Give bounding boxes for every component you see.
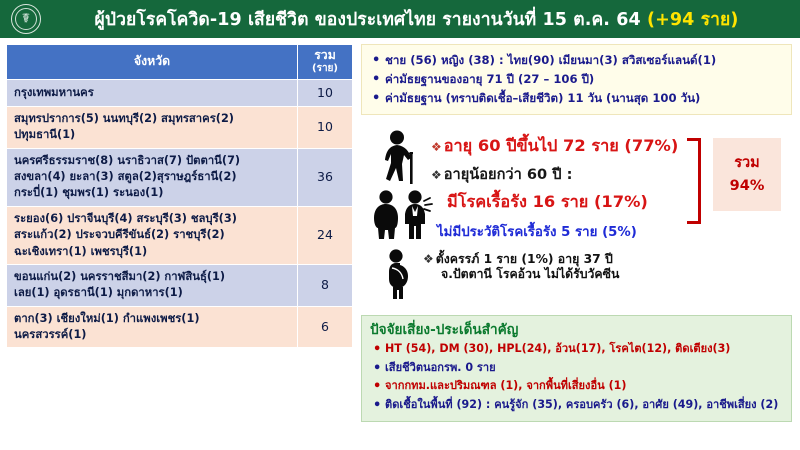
list-item: HT (54), DM (30), HPL(24), อ้วน(17), โรค…	[370, 340, 784, 359]
stat-elderly-60-plus: ❖อายุ 60 ปีขึ้นไป 72 ราย (77%)	[431, 136, 678, 156]
elderly-with-cane-icon	[377, 130, 423, 186]
column-header-total-label: รวม	[314, 48, 336, 62]
age-breakdown-region: ❖อายุ 60 ปีขึ้นไป 72 ราย (77%) ❖อายุน้อย…	[361, 122, 792, 310]
page-title-main: ผู้ป่วยโรคโควิด-19 เสียชีวิต ของประเทศไท…	[95, 10, 641, 30]
cell-provinces: กรุงเทพมหานคร	[7, 79, 298, 106]
list-item: ค่ามัธยฐานของอายุ 71 ปี (27 – 106 ปี)	[370, 70, 783, 89]
list-item: ติดเชื้อในพื้นที่ (92) : คนรู้จัก (35), …	[370, 396, 784, 415]
stat-under-60-label: ❖อายุน้อยกว่า 60 ปี :	[431, 166, 572, 184]
cell-total: 36	[298, 148, 353, 206]
moph-emblem-icon: ☤	[11, 4, 41, 34]
list-item: เสียชีวิตนอกรพ. 0 ราย	[370, 359, 784, 378]
demographics-info-box: ชาย (56) หญิง (38) : ไทย(90) เมียนมา(3) …	[361, 44, 792, 115]
obese-and-coughing-person-icon	[371, 190, 437, 240]
diamond-bullet-icon: ❖	[431, 140, 444, 154]
summary-total-value: 94%	[730, 179, 765, 194]
stat-elderly-text: อายุ 60 ปีขึ้นไป 72 ราย (77%)	[444, 136, 679, 155]
demographics-list: ชาย (56) หญิง (38) : ไทย(90) เมียนมา(3) …	[370, 51, 783, 107]
column-header-province: จังหวัด	[7, 45, 298, 80]
page-title-delta: (+94 ราย)	[647, 10, 739, 30]
summary-bracket	[687, 138, 701, 224]
summary-total-label: รวม	[734, 156, 760, 171]
list-item: ค่ามัธยฐาน (ทราบติดเชื้อ–เสียชีวิต) 11 ว…	[370, 89, 783, 108]
cell-total: 8	[298, 264, 353, 306]
cell-provinces: ขอนแก่น(2) นครราชสีมา(2) กาฬสินธุ์(1)เลย…	[7, 264, 298, 306]
table-row: ระยอง(6) ปราจีนบุรี(4) สระบุรี(3) ชลบุรี…	[7, 206, 353, 264]
stat-under-60-text: อายุน้อยกว่า 60 ปี :	[444, 166, 573, 183]
table-body: กรุงเทพมหานคร10สมุทรปราการ(5) นนทบุรี(2)…	[7, 79, 353, 348]
cell-total: 6	[298, 306, 353, 348]
cell-provinces: นครศรีธรรมราช(8) นราธิวาส(7) ปัตตานี(7)ส…	[7, 148, 298, 206]
pregnant-woman-icon	[383, 249, 415, 299]
table-row: สมุทรปราการ(5) นนทบุรี(2) สมุทรสาคร(2)ปท…	[7, 106, 353, 148]
stat-chronic-disease: มีโรคเรื้อรัง 16 ราย (17%)	[447, 192, 648, 212]
list-item: ชาย (56) หญิง (38) : ไทย(90) เมียนมา(3) …	[370, 51, 783, 70]
stat-pregnant-case: ❖ตั้งครรภ์ 1 ราย (1%) อายุ 37 ปี จ.ปัตตา…	[423, 252, 619, 282]
risk-factor-title: ปัจจัยเสี่ยง-ประเด็นสำคัญ	[370, 321, 784, 339]
column-header-total-unit: (ราย)	[300, 63, 350, 76]
summary-total-box: รวม 94%	[713, 138, 781, 211]
cell-total: 10	[298, 79, 353, 106]
risk-factor-list: HT (54), DM (30), HPL(24), อ้วน(17), โรค…	[370, 340, 784, 414]
caduceus-glyph: ☤	[22, 13, 31, 26]
page-title: ผู้ป่วยโรคโควิด-19 เสียชีวิต ของประเทศไท…	[41, 5, 800, 33]
table-row: กรุงเทพมหานคร10	[7, 79, 353, 106]
table-row: ตาก(3) เชียงใหม่(1) กำแพงเพชร(1)นครสวรรค…	[7, 306, 353, 348]
column-header-total: รวม (ราย)	[298, 45, 353, 80]
table-row: ขอนแก่น(2) นครราชสีมา(2) กาฬสินธุ์(1)เลย…	[7, 264, 353, 306]
diamond-bullet-icon: ❖	[431, 168, 444, 182]
stat-pregnant-line-1: ตั้งครรภ์ 1 ราย (1%) อายุ 37 ปี	[436, 252, 613, 266]
diamond-bullet-icon: ❖	[423, 252, 436, 266]
cell-provinces: สมุทรปราการ(5) นนทบุรี(2) สมุทรสาคร(2)ปท…	[7, 106, 298, 148]
list-item: จากกทม.และปริมณฑล (1), จากพื้นที่เสี่ยงอ…	[370, 377, 784, 396]
cell-provinces: ตาก(3) เชียงใหม่(1) กำแพงเพชร(1)นครสวรรค…	[7, 306, 298, 348]
province-death-table: จังหวัด รวม (ราย) กรุงเทพมหานคร10สมุทรปร…	[6, 44, 353, 348]
table-header-row: จังหวัด รวม (ราย)	[7, 45, 353, 80]
risk-factor-box: ปัจจัยเสี่ยง-ประเด็นสำคัญ HT (54), DM (3…	[361, 315, 792, 422]
stat-no-chronic-disease: ไม่มีประวัติโรคเรื้อรัง 5 ราย (5%)	[437, 225, 637, 241]
stat-pregnant-line-2: จ.ปัตตานี โรคอ้วน ไม่ได้รับวัคซีน	[423, 267, 619, 282]
table-row: นครศรีธรรมราช(8) นราธิวาส(7) ปัตตานี(7)ส…	[7, 148, 353, 206]
header-bar: ☤ ผู้ป่วยโรคโควิด-19 เสียชีวิต ของประเทศ…	[0, 0, 800, 38]
cell-provinces: ระยอง(6) ปราจีนบุรี(4) สระบุรี(3) ชลบุรี…	[7, 206, 298, 264]
cell-total: 10	[298, 106, 353, 148]
cell-total: 24	[298, 206, 353, 264]
